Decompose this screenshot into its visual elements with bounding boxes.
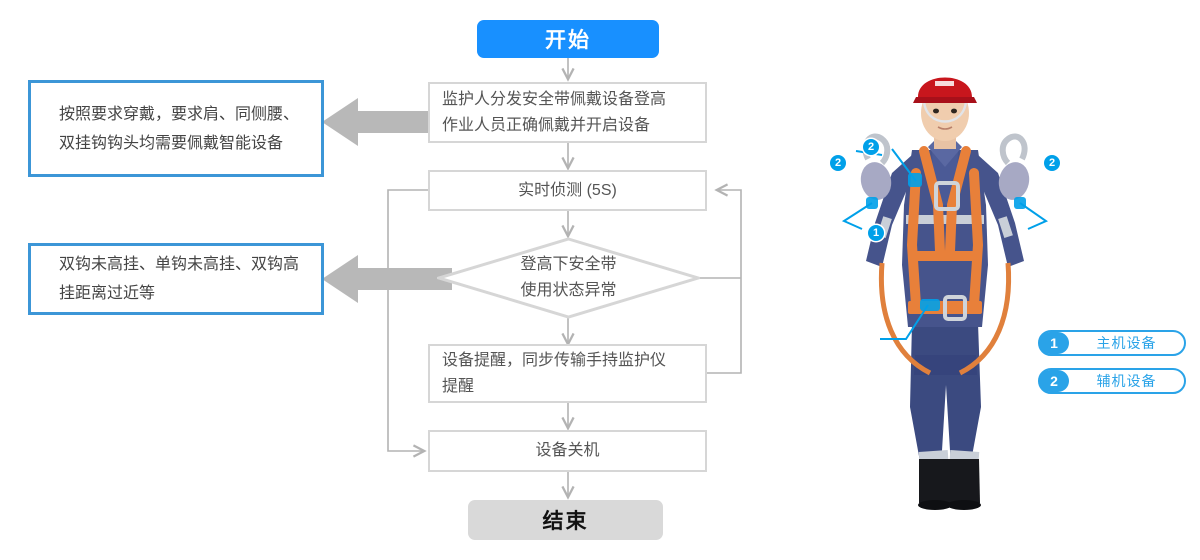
- block-arrow-bottom: [320, 252, 452, 306]
- node-start[interactable]: 开始: [477, 20, 659, 58]
- photo-marker-right-hook: 2: [1044, 155, 1060, 171]
- callout-abnormal-conditions[interactable]: 双钩未高挂、单钩未高挂、双钩高挂距离过近等: [28, 243, 324, 315]
- legend-label-aux: 辅机设备: [1069, 371, 1184, 391]
- worker-photo: 2 2 2 1: [820, 55, 1070, 515]
- node-step-alert[interactable]: 设备提醒，同步传输手持监护仪 提醒: [428, 344, 707, 403]
- node-step-alert-label: 设备提醒，同步传输手持监护仪 提醒: [442, 348, 666, 400]
- wire-feedback-right: [707, 190, 741, 373]
- wire-bypass-left: [388, 190, 428, 451]
- node-decision-abnormal[interactable]: 登高下安全带 使用状态异常: [437, 237, 700, 319]
- node-start-label: 开始: [545, 24, 591, 54]
- node-step-shutdown-label: 设备关机: [535, 438, 599, 464]
- node-step-detect-label: 实时侦测 (5S): [518, 178, 617, 204]
- node-step-distribute-label: 监护人分发安全带佩戴设备登高 作业人员正确佩戴并开启设备: [442, 87, 666, 139]
- photo-marker-left-shoulder: 2: [863, 139, 879, 155]
- callout-wearing-requirements-text: 按照要求穿戴，要求肩、同侧腰、双挂钩钩头均需要佩戴智能设备: [59, 100, 305, 158]
- node-decision-line1: 登高下安全带: [520, 252, 616, 278]
- node-end-label: 结束: [543, 505, 589, 535]
- flowchart-page: 开始 监护人分发安全带佩戴设备登高 作业人员正确佩戴并开启设备 实时侦测 (5S…: [0, 0, 1200, 560]
- worker-illustration: [820, 55, 1070, 515]
- node-step-shutdown[interactable]: 设备关机: [428, 430, 707, 472]
- node-step-distribute[interactable]: 监护人分发安全带佩戴设备登高 作业人员正确佩戴并开启设备: [428, 82, 707, 143]
- callout-abnormal-conditions-text: 双钩未高挂、单钩未高挂、双钩高挂距离过近等: [59, 250, 305, 308]
- node-decision-line2: 使用状态异常: [520, 278, 616, 304]
- legend-label-host: 主机设备: [1069, 333, 1184, 353]
- node-step-detect[interactable]: 实时侦测 (5S): [428, 170, 707, 211]
- photo-marker-left-hook: 2: [830, 155, 846, 171]
- node-end[interactable]: 结束: [468, 500, 663, 540]
- photo-marker-waist-host: 1: [868, 225, 884, 241]
- callout-wearing-requirements[interactable]: 按照要求穿戴，要求肩、同侧腰、双挂钩钩头均需要佩戴智能设备: [28, 80, 324, 177]
- node-decision-text: 登高下安全带 使用状态异常: [437, 237, 700, 319]
